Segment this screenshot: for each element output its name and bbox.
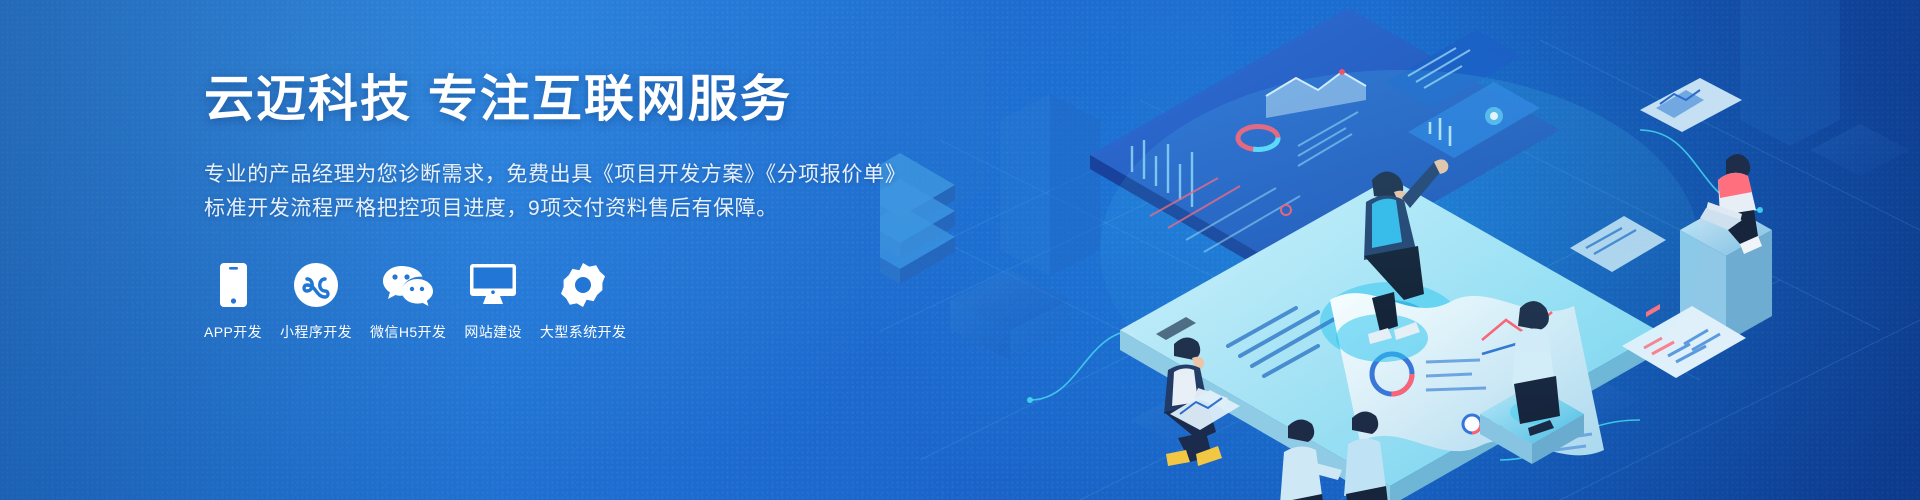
mobile-phone-icon xyxy=(220,262,247,308)
service-label: 大型系统开发 xyxy=(540,322,626,342)
subtitle-line-2: 标准开发流程严格把控项目进度，9项交付资料售后有保障。 xyxy=(204,192,904,226)
service-item-system[interactable]: 大型系统开发 xyxy=(540,262,626,342)
service-list: APP开发 小程序开发 xyxy=(204,262,904,342)
mini-program-icon xyxy=(294,262,338,308)
monitor-icon xyxy=(470,262,516,308)
service-item-wechat[interactable]: 微信H5开发 xyxy=(370,262,446,342)
service-label: 网站建设 xyxy=(464,322,522,342)
wechat-icon xyxy=(383,262,433,308)
service-label: 微信H5开发 xyxy=(370,322,446,342)
service-item-app[interactable]: APP开发 xyxy=(204,262,262,342)
hero-copy: 云迈科技 专注互联网服务 专业的产品经理为您诊断需求，免费出具《项目开发方案》《… xyxy=(204,70,904,342)
service-label: 小程序开发 xyxy=(280,322,352,342)
hero-banner: 云迈科技 专注互联网服务 专业的产品经理为您诊断需求，免费出具《项目开发方案》《… xyxy=(0,0,1920,500)
service-item-website[interactable]: 网站建设 xyxy=(464,262,522,342)
page-title: 云迈科技 专注互联网服务 xyxy=(204,70,904,129)
subtitle-line-1: 专业的产品经理为您诊断需求，免费出具《项目开发方案》《分项报价单》 xyxy=(204,158,904,192)
service-item-miniprogram[interactable]: 小程序开发 xyxy=(280,262,352,342)
service-label: APP开发 xyxy=(204,322,262,342)
hero-illustration xyxy=(880,0,1920,500)
gear-icon xyxy=(561,262,605,308)
